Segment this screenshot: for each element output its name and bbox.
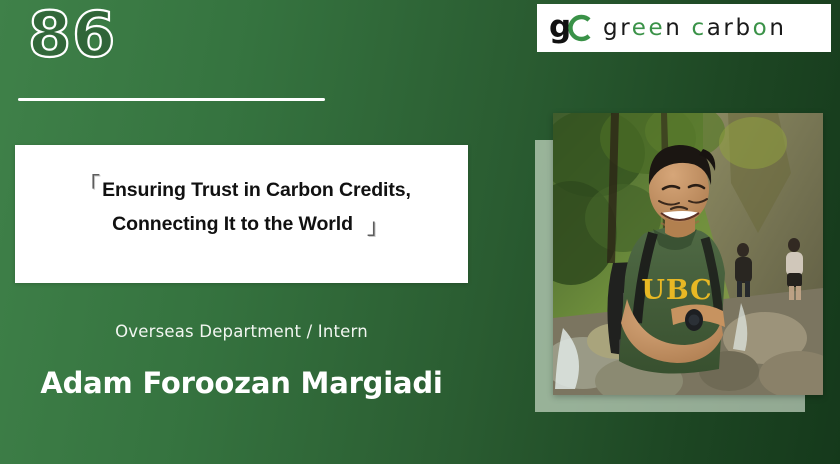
speaker-role: Overseas Department / Intern [15, 322, 468, 341]
svg-text:g: g [549, 10, 571, 45]
gc-monogram-icon: g [549, 10, 593, 46]
slide-number: 86 [28, 2, 116, 67]
close-corner-bracket-icon: 」 [367, 215, 389, 240]
speaker-name: Adam Foroozan Margiadi [15, 366, 468, 400]
brand-logo: g greencarbon [537, 4, 831, 52]
presentation-slide: 86 g greencarbon 「Ensuring Trust in Carb… [0, 0, 840, 464]
title-line-1: Ensuring Trust in Carbon Credits, [102, 179, 411, 201]
title-card: 「Ensuring Trust in Carbon Credits, Conne… [15, 145, 468, 283]
open-corner-bracket-icon: 「 [78, 174, 100, 199]
svg-text:UBC: UBC [641, 275, 712, 306]
brand-wordmark: greencarbon [603, 17, 787, 40]
presentation-title: 「Ensuring Trust in Carbon Credits, Conne… [15, 173, 468, 241]
title-line-2: Connecting It to the World [112, 213, 353, 235]
header-divider-rule [18, 98, 325, 101]
speaker-photo: UBC [553, 113, 823, 395]
